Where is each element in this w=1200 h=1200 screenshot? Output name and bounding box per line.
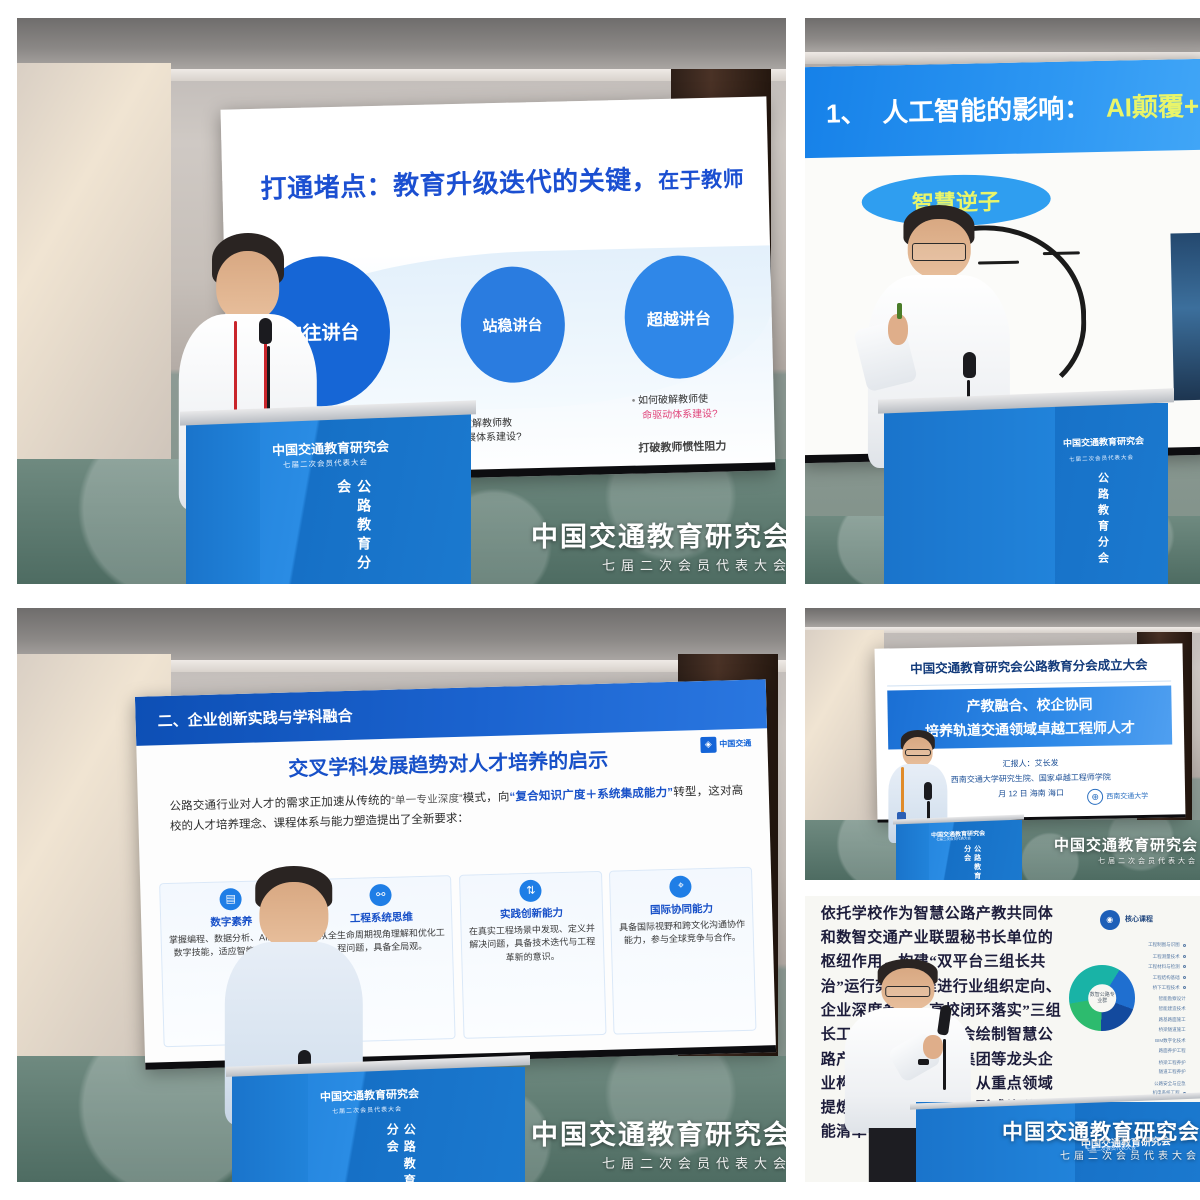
- photo-speaker-interdisciplinary[interactable]: 二、企业创新实践与学科融合 ◈ 中国交通 交叉学科发展趋势对人才培养的启示 公路…: [17, 608, 786, 1182]
- ceiling-3: [17, 608, 786, 660]
- microphone-head-4: [924, 782, 932, 800]
- slide2-header-text: 1、人工智能的影响：AI颠覆+专业: [805, 86, 1200, 132]
- competency-card: ⌖ 国际协同能力 具备国际视野和跨文化沟通协作能力，参与全球竞争与合作。: [609, 867, 756, 1035]
- slide2-thumbnail-image: [1170, 233, 1200, 400]
- slide3-para-q2: “复合知识广度＋系统集成能力”: [509, 787, 673, 804]
- ceiling-2: [805, 18, 1200, 52]
- speaker-glasses-5: [885, 986, 931, 997]
- competency-card: ⇅ 实践创新能力 在真实工程场景中发现、定义并解决问题，具备技术迭代与工程革新的…: [459, 871, 606, 1039]
- ceiling: [17, 18, 786, 69]
- slide-circle-3-label: 超越讲台: [646, 304, 711, 330]
- podium-side-5: [916, 1102, 1075, 1182]
- left-wall-4: [805, 630, 884, 820]
- list-item: 桥下工程技术: [1153, 985, 1186, 991]
- network-icon: ⚯: [369, 884, 392, 907]
- list-item: 智能勘察设计: [1159, 996, 1186, 1002]
- podium-5: 中国交通教育研究会 七届二次会员代表大会: [916, 1102, 1200, 1182]
- slide-title-main: 打通堵点：: [260, 170, 393, 203]
- podium: 中国交通教育研究会 七届二次会员代表大会 公路教育分会: [186, 414, 471, 584]
- card-title: 国际协同能力: [616, 900, 747, 919]
- seal-text: 西南交通大学: [1106, 791, 1148, 802]
- list-item: 工程制图与识图: [1148, 942, 1186, 948]
- podium-event-text-2: 七届二次会员代表大会: [1069, 452, 1134, 462]
- logo-mark-icon: ◈: [700, 737, 716, 753]
- list-item: 隧道工程养护: [1159, 1069, 1186, 1075]
- lightbulb-icon: ⇅: [520, 880, 543, 903]
- podium-branch-text-4: 公路教育分会: [962, 845, 982, 880]
- list-item: 工程材料与检测: [1148, 964, 1186, 970]
- corporate-logo: ◈ 中国交通: [700, 736, 751, 753]
- list-item: 桥梁隧道施工: [1159, 1027, 1186, 1033]
- slide3-paragraph: 公路交通行业对人才的需求正加速从传统的“单一专业深度”模式，向“复合知识广度＋系…: [169, 781, 744, 837]
- seal-icon: ⊕: [1087, 789, 1103, 805]
- bullet-dot-2: •: [631, 396, 635, 407]
- slide2-header-highlight: AI颠覆+专业: [1090, 90, 1200, 123]
- list-item: 路面养护工程: [1159, 1048, 1186, 1054]
- slide4-title-line-2: 培养轨道交通领域卓越工程师人才: [925, 718, 1135, 742]
- wheel-top-icon: ◉: [1100, 910, 1120, 930]
- list-item: 桥梁工程养护: [1159, 1060, 1186, 1066]
- microphone-stand-5: [943, 1039, 946, 1090]
- photo-speaker-title-slide[interactable]: 中国交通教育研究会公路教育分会成立大会 产教融合、校企协同 培养轨道交通领域卓越…: [805, 608, 1200, 880]
- list-item: BIM数字化技术: [1155, 1038, 1186, 1044]
- speaker-lanyard-4: [901, 767, 904, 813]
- laser-pointer: [897, 303, 902, 319]
- slide-bullet-right-line1: 如何破解教师使: [638, 394, 708, 407]
- slide-title-rest: 教育升级迭代的关键，: [392, 164, 658, 200]
- left-wall: [17, 63, 171, 459]
- slide-bullet-right: • 如何破解教师使 命驱动体系建设?: [631, 393, 717, 424]
- globe-icon: ⌖: [670, 875, 693, 898]
- slide3-para-2: 模式，向: [463, 792, 510, 805]
- slide3-para-q1: “单一专业深度”: [391, 793, 463, 807]
- slide4-header: 中国交通教育研究会公路教育分会成立大会: [875, 654, 1183, 678]
- slide-footnote-text: 打破教师惯性阻力: [638, 440, 726, 454]
- list-item: 工程测量技术: [1153, 954, 1186, 960]
- podium-org-text: 中国交通教育研究会: [271, 436, 389, 459]
- card-title: 实践创新能力: [466, 904, 597, 923]
- card-body: 具备国际视野和跨文化沟通协作能力，参与全球竞争与合作。: [617, 918, 748, 949]
- slide-title: 打通堵点：教育升级迭代的关键，在于教师: [260, 157, 741, 206]
- speaker-glasses-4: [905, 749, 931, 756]
- slide4-title-line-1: 产教融合、校企协同: [966, 694, 1092, 716]
- wristwatch: [918, 1059, 929, 1065]
- speaker-hand-5: [923, 1035, 943, 1060]
- podium-2: 中国交通教育研究会 七届二次会员代表大会 公路教育分会: [884, 403, 1168, 584]
- photo-collage: 打通堵点：教育升级迭代的关键，在于教师 向往讲台 站稳讲台 超越讲台 • 如何破…: [0, 0, 1200, 1200]
- podium-side: [186, 414, 260, 584]
- microphone-head-2: [963, 352, 976, 378]
- ceiling-4: [805, 608, 1200, 627]
- photo-speaker-smart-highway-closeup[interactable]: 依托学校作为智慧公路产教共同体和数智交通产业联盟秘书长单位的枢纽作用，构建“双平…: [805, 896, 1200, 1182]
- podium-branch-text-2: 公路教育分会: [1094, 472, 1110, 568]
- slide-footnote: 打破教师惯性阻力: [638, 437, 726, 455]
- microphone-head: [259, 318, 272, 344]
- speaker-glasses-2: [912, 243, 966, 261]
- slide2-header-band: 1、人工智能的影响：AI颠覆+专业: [805, 59, 1200, 159]
- wheel-top-label: 核心课程: [1125, 914, 1153, 924]
- podium-branch-text: 公路教育分会: [334, 479, 374, 584]
- photo-speaker-ai-impact[interactable]: 1、人工智能的影响：AI颠覆+专业 智慧逆子: [805, 18, 1200, 584]
- speaker-head: [216, 251, 280, 321]
- slide-title-tail: 在于教师: [657, 168, 744, 193]
- logo-text: 中国交通: [719, 738, 751, 750]
- slide2-header-index: 1、: [810, 98, 867, 129]
- slide3-section-text: 二、企业创新实践与学科融合: [135, 705, 353, 732]
- podium-side-4: [896, 820, 929, 880]
- card-body: 在真实工程场景中发现、定义并解决问题，具备技术迭代与工程革新的意识。: [467, 922, 599, 966]
- list-item: 路基路面施工: [1159, 1017, 1186, 1023]
- list-item: 智能建造技术: [1159, 1006, 1186, 1012]
- list-item: 工程结构基础: [1153, 975, 1186, 981]
- cartoon-eye-right: [1043, 252, 1080, 256]
- slide3-para-1: 公路交通行业对人才的需求正加速从传统的: [169, 795, 391, 813]
- podium-side-2: [884, 403, 1055, 584]
- slide3-title: 交叉学科发展趋势对人才培养的启示: [288, 744, 609, 782]
- slide-bullet-right-line2: 命驱动体系建设?: [642, 408, 718, 421]
- list-item: 公路安全与应急: [1154, 1081, 1186, 1087]
- slide-circle-2-label: 站稳讲台: [482, 314, 543, 336]
- podium-side-3: [232, 1067, 308, 1182]
- photo-speaker-teacher-development[interactable]: 打通堵点：教育升级迭代的关键，在于教师 向往讲台 站稳讲台 超越讲台 • 如何破…: [17, 18, 786, 584]
- podium-branch-text-3: 公路教育分会: [384, 1123, 418, 1182]
- university-seal: ⊕ 西南交通大学: [1087, 788, 1148, 805]
- slide2-header-title: 人工智能的影响：: [866, 93, 1090, 128]
- speaker-head-3: [259, 882, 328, 948]
- podium-4: 中国交通教育研究会 七届二次会员代表大会 公路教育分会: [896, 820, 1022, 880]
- podium-3: 中国交通教育研究会 七届二次会员代表大会 公路教育分会: [232, 1067, 524, 1182]
